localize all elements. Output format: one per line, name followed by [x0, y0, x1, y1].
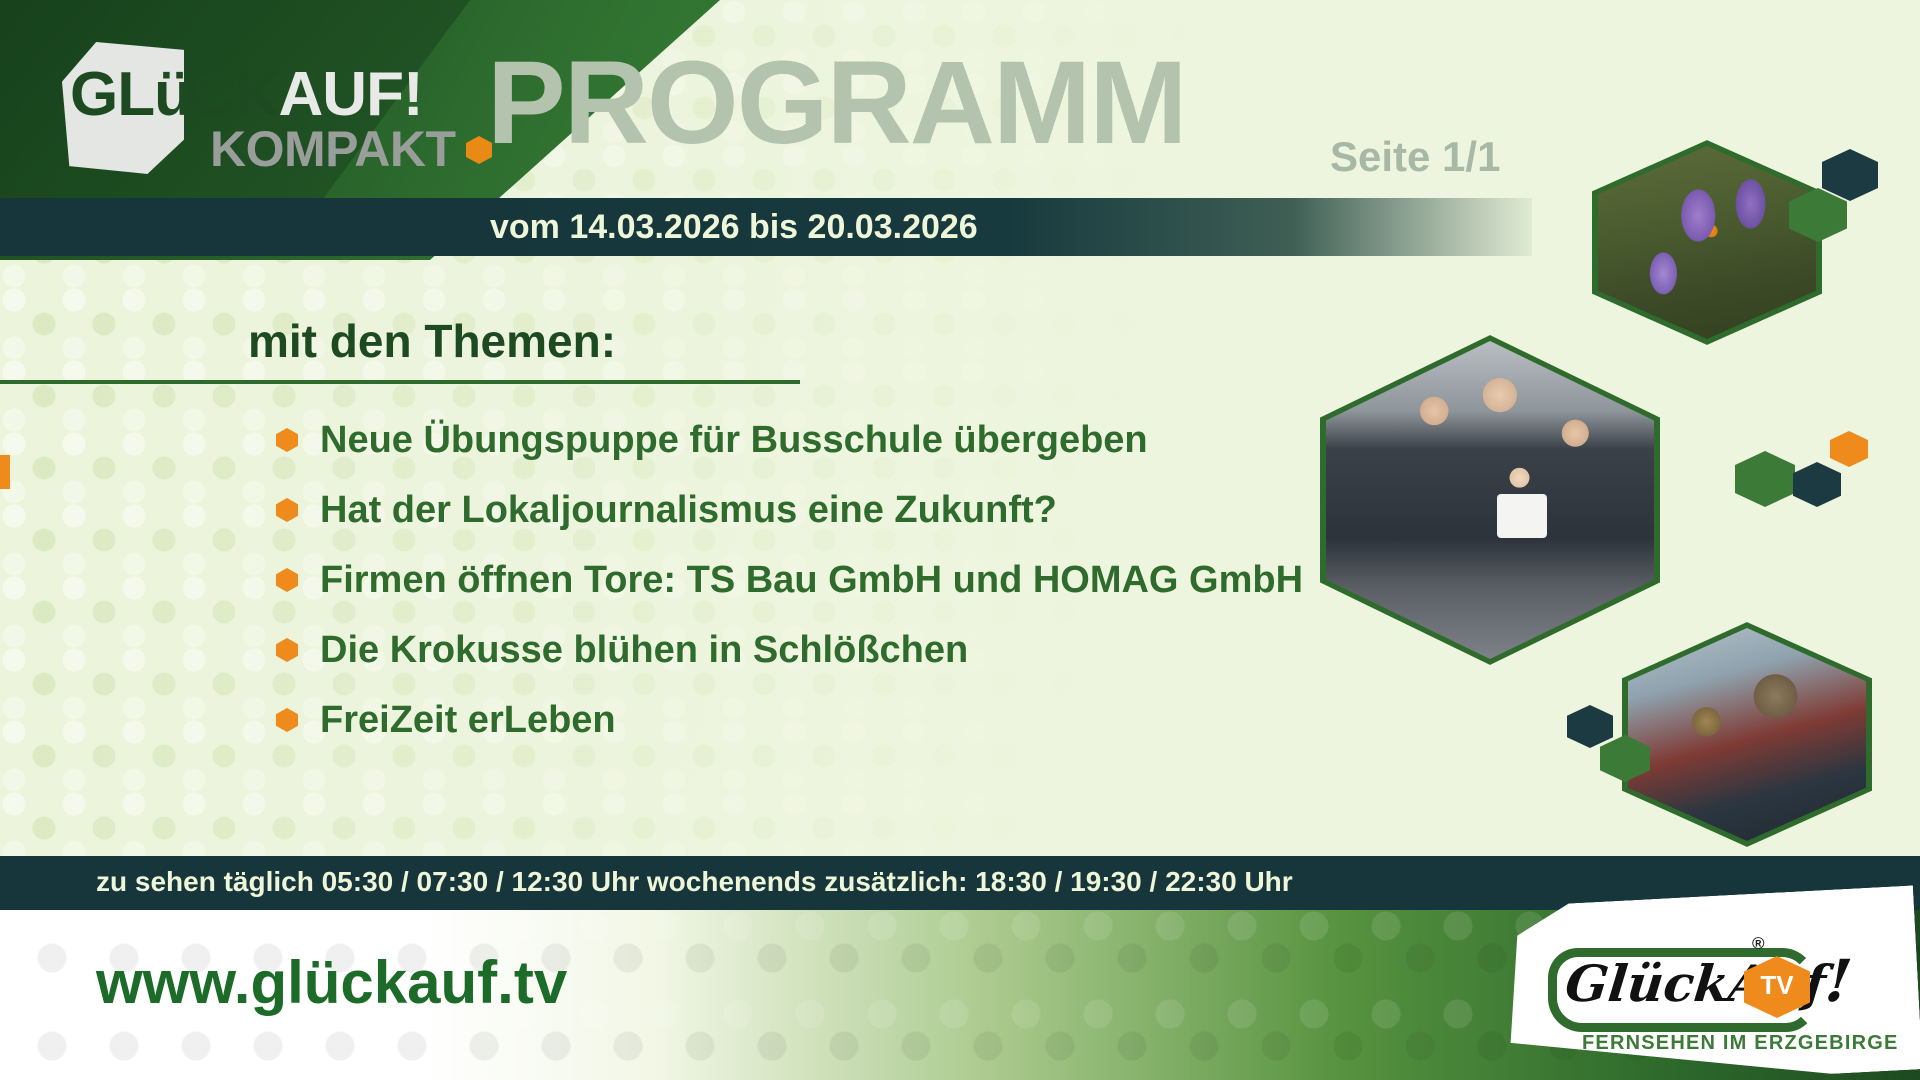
program-slide: GLüCKAUF! KOMPAKT PROGRAMM Seite 1/1 vom…	[0, 0, 1920, 1080]
registered-trademark-icon: ®	[1752, 934, 1765, 954]
list-item[interactable]: Firmen öffnen Tore: TS Bau GmbH und HOMA…	[276, 545, 1436, 615]
list-item[interactable]: Die Krokusse blühen in Schlößchen	[276, 615, 1436, 685]
topics-list: Neue Übungspuppe für Busschule übergeben…	[276, 405, 1436, 755]
topics-heading: mit den Themen:	[248, 318, 616, 364]
hexagon-bullet-icon	[276, 638, 298, 662]
logo-wordmark-line1: GLüCKAUF!	[70, 64, 423, 126]
list-item-label: FreiZeit erLeben	[320, 701, 616, 739]
date-range-bar: vom 14.03.2026 bis 20.03.2026	[442, 198, 1532, 256]
tv-badge-label: TV	[1744, 970, 1810, 1001]
list-item[interactable]: Neue Übungspuppe für Busschule übergeben	[276, 405, 1436, 475]
logo-kompakt-text: KOMPAKT	[210, 124, 456, 174]
logo-auf-text: AUF!	[279, 60, 423, 129]
list-item-label: Firmen öffnen Tore: TS Bau GmbH und HOMA…	[320, 561, 1303, 599]
logo-tagline: FERNSEHEN IM ERZGEBIRGE	[1582, 1032, 1899, 1055]
glueckauf-kompakt-logo: GLüCKAUF! KOMPAKT	[62, 40, 482, 190]
left-accent-notch	[0, 455, 10, 489]
list-item-label: Neue Übungspuppe für Busschule übergeben	[320, 421, 1148, 459]
dummy-shirt	[1497, 494, 1547, 538]
page-title: PROGRAMM	[487, 44, 1186, 162]
logo-wordmark: GlückAuf!	[1563, 952, 1854, 1010]
topics-heading-underline	[0, 380, 800, 384]
website-url[interactable]: www.glückauf.tv	[96, 948, 567, 1017]
date-range-text: vom 14.03.2026 bis 20.03.2026	[490, 208, 978, 247]
list-item-label: Hat der Lokaljournalismus eine Zukunft?	[320, 491, 1057, 529]
hexagon-bullet-icon	[276, 428, 298, 452]
logo-glueck-text: GLüCK	[70, 60, 279, 129]
list-item[interactable]: FreiZeit erLeben	[276, 685, 1436, 755]
date-bar-left-strip	[0, 198, 470, 256]
hexagon-bullet-icon	[276, 568, 298, 592]
hexagon-bullet-icon	[276, 498, 298, 522]
page-indicator: Seite 1/1	[1330, 136, 1500, 178]
hexagon-bullet-icon	[276, 708, 298, 732]
list-item[interactable]: Hat der Lokaljournalismus eine Zukunft?	[276, 475, 1436, 545]
list-item-label: Die Krokusse blühen in Schlößchen	[320, 631, 968, 669]
broadcast-times-text: zu sehen täglich 05:30 / 07:30 / 12:30 U…	[96, 866, 1293, 898]
